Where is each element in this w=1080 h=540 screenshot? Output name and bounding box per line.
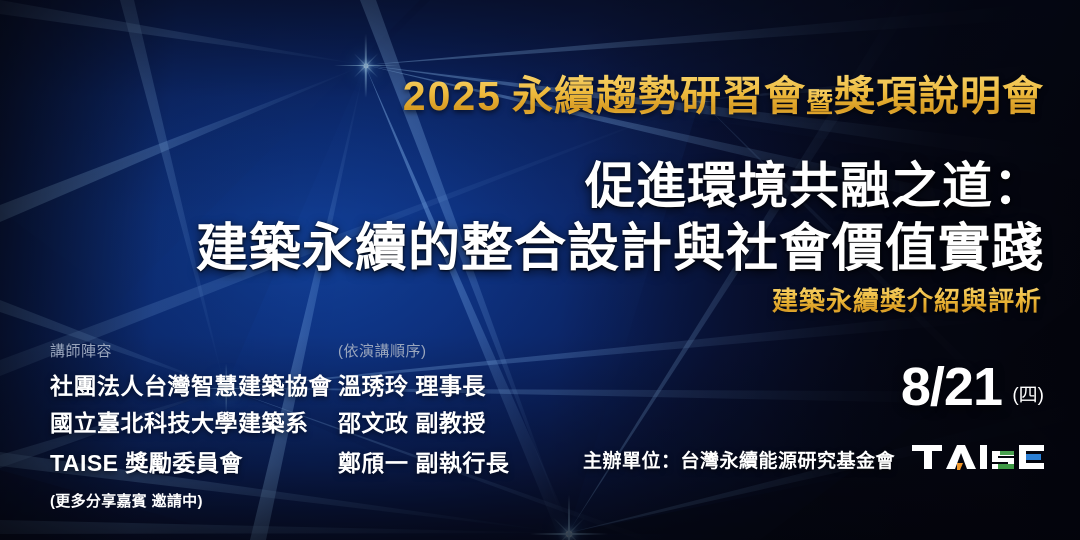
kicker-conjunction: 暨: [806, 88, 834, 118]
event-kicker-title: 2025永續趨勢研習會暨獎項說明會: [0, 62, 1044, 122]
subtitle-text: 建築永續獎介紹與評析: [772, 286, 1042, 316]
event-day-of-week: (四): [1012, 380, 1044, 407]
event-banner: 2025永續趨勢研習會暨獎項說明會 促進環境共融之道： 建築永續的整合設計與社會…: [0, 0, 1080, 540]
organization-item: 國立臺北科技大學建築系: [50, 404, 309, 438]
speakers-left-label: 講師陣容: [50, 340, 112, 361]
speaker-item: 溫琇玲 理事長: [338, 367, 486, 401]
organization-item: 社團法人台灣智慧建築協會: [50, 367, 332, 401]
kicker-year: 2025: [403, 73, 512, 119]
organization-item: TAISE 獎勵委員會: [50, 444, 243, 478]
kicker-text-a: 永續趨勢研習會: [512, 73, 806, 119]
taise-logo: [912, 442, 1044, 472]
speakers-note: (更多分享嘉賓 邀請中): [50, 490, 203, 511]
speaker-item: 邵文政 副教授: [338, 404, 486, 438]
main-title-line-2: 建築永續的整合設計與社會價值實踐: [196, 206, 1044, 281]
organizer-line: 主辦單位：台灣永續能源研究基金會: [583, 446, 895, 473]
speakers-right-label: (依演講順序): [338, 340, 427, 361]
event-date: 8/21: [901, 356, 1002, 418]
speaker-item: 鄭頎一 副執行長: [338, 444, 509, 478]
subtitle: 建築永續獎介紹與評析: [772, 281, 1042, 318]
kicker-text-b: 獎項說明會: [834, 73, 1044, 119]
